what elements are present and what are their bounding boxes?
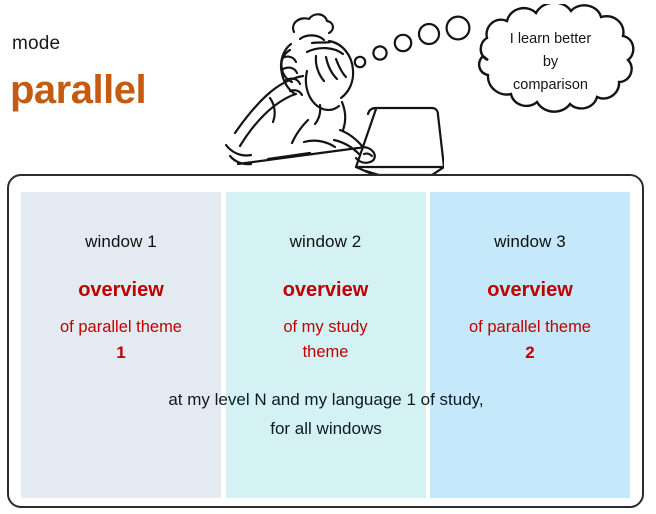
window-1-subtitle: of parallel theme [21, 315, 221, 340]
thought-bubble-text: I learn better by comparison [447, 28, 654, 97]
window-1-heading: overview [21, 279, 221, 301]
window-panel-2[interactable]: window 2 overview of my study theme [226, 192, 426, 498]
window-panel-1[interactable]: window 1 overview of parallel theme 1 [21, 192, 221, 498]
window-1-number: 1 [21, 340, 221, 365]
window-3-number: 2 [430, 340, 630, 365]
window-2-title: window 2 [226, 232, 426, 252]
window-1-title: window 1 [21, 232, 221, 252]
window-3-heading: overview [430, 279, 630, 301]
window-2-subtitle: of my study theme [226, 315, 426, 365]
mode-label: mode [12, 33, 60, 55]
window-panel-3[interactable]: window 3 overview of parallel theme 2 [430, 192, 630, 498]
window-3-subtitle: of parallel theme [430, 315, 630, 340]
header: mode parallel [0, 0, 656, 175]
window-3-title: window 3 [430, 232, 630, 252]
window-2-heading: overview [226, 279, 426, 301]
windows-row: window 1 overview of parallel theme 1 wi… [7, 174, 644, 508]
mode-value: parallel [10, 68, 146, 113]
